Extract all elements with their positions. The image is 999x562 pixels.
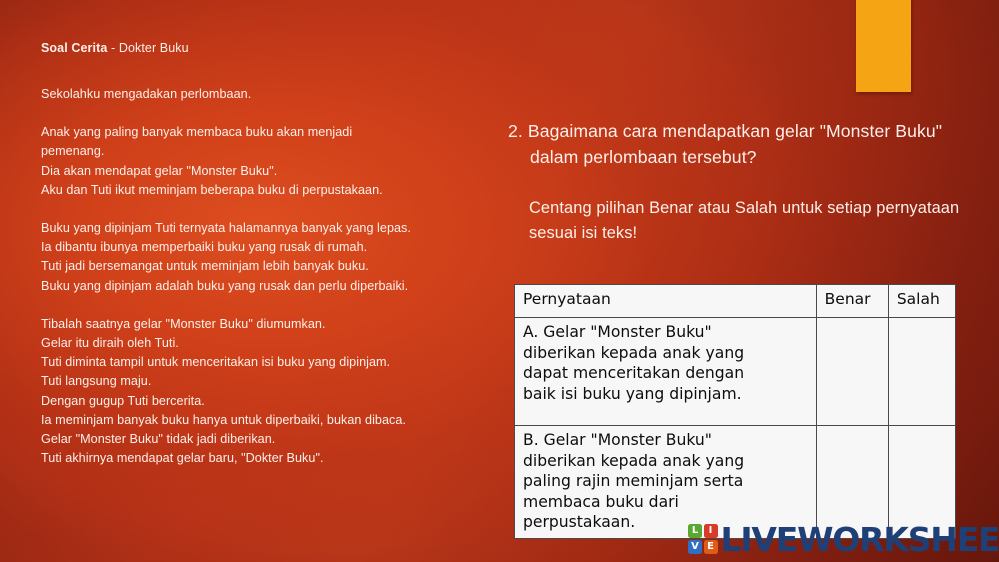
table-row: A. Gelar "Monster Buku" diberikan kepada… [515,318,956,426]
story-line: pemenang. [41,142,511,161]
story-line: Gelar itu diraih oleh Tuti. [41,334,511,353]
statement-line: dapat menceritakan dengan [523,363,809,384]
logo-tile-e: E [704,540,718,554]
answer-cell-a-benar[interactable] [816,318,888,426]
story-line: Tuti jadi bersemangat untuk meminjam leb… [41,257,511,276]
statement-line: A. Gelar "Monster Buku" [523,322,809,343]
logo-tile-v: V [688,540,702,554]
logo-tile-l: L [688,524,702,538]
slide-canvas: Soal Cerita - Dokter Buku Sekolahku meng… [0,0,999,562]
story-line: Tuti langsung maju. [41,372,511,391]
story-line: Dengan gugup Tuti bercerita. [41,392,511,411]
orange-accent-bar [856,0,911,92]
answer-table-container: Pernyataan Benar Salah A. Gelar "Monster… [514,284,956,539]
story-title-rest: - Dokter Buku [107,41,188,55]
logo-tile-i: I [704,524,718,538]
story-line: Sekolahku mengadakan perlombaan. [41,85,511,104]
story-text-block: Soal Cerita - Dokter Buku Sekolahku meng… [41,41,511,468]
story-title-strong: Soal Cerita [41,41,107,55]
column-header-pernyataan: Pernyataan [515,285,817,318]
story-line: Tuti akhirnya mendapat gelar baru, "Dokt… [41,449,511,468]
story-line: Tibalah saatnya gelar "Monster Buku" diu… [41,315,511,334]
story-paragraph: Sekolahku mengadakan perlombaan. [41,85,511,104]
story-line: Buku yang dipinjam adalah buku yang rusa… [41,277,511,296]
question-prompt: 2. Bagaimana cara mendapatkan gelar "Mon… [508,118,978,170]
story-line: Ia meminjam banyak buku hanya untuk dipe… [41,411,511,430]
story-line: Anak yang paling banyak membaca buku aka… [41,123,511,142]
liveworksheets-logo: L I V E LIVEWORKSHEETS [688,519,999,559]
column-header-salah: Salah [888,285,955,318]
statement-line: B. Gelar "Monster Buku" [523,430,809,451]
table-header-row: Pernyataan Benar Salah [515,285,956,318]
liveworksheets-wordmark: LIVEWORKSHEETS [721,523,999,556]
story-line: Aku dan Tuti ikut meminjam beberapa buku… [41,181,511,200]
statement-line: baik isi buku yang dipinjam. [523,384,809,405]
story-line: Ia dibantu ibunya memperbaiki buku yang … [41,238,511,257]
statement-cell-a: A. Gelar "Monster Buku" diberikan kepada… [515,318,817,426]
story-line: Tuti diminta tampil untuk menceritakan i… [41,353,511,372]
statement-line: membaca buku dari [523,492,809,513]
question-block: 2. Bagaimana cara mendapatkan gelar "Mon… [508,118,978,246]
story-line: Gelar "Monster Buku" tidak jadi diberika… [41,430,511,449]
statement-line: paling rajin meminjam serta [523,471,809,492]
column-header-benar: Benar [816,285,888,318]
question-instruction: Centang pilihan Benar atau Salah untuk s… [508,196,978,246]
answer-table: Pernyataan Benar Salah A. Gelar "Monster… [514,284,956,539]
statement-line: diberikan kepada anak yang [523,451,809,472]
story-title: Soal Cerita - Dokter Buku [41,41,511,55]
story-paragraph: Anak yang paling banyak membaca buku aka… [41,123,511,200]
story-paragraph: Tibalah saatnya gelar "Monster Buku" diu… [41,315,511,469]
story-paragraph: Buku yang dipinjam Tuti ternyata halaman… [41,219,511,296]
statement-line: diberikan kepada anak yang [523,343,809,364]
liveworksheets-logo-tiles: L I V E [688,524,718,554]
story-line: Buku yang dipinjam Tuti ternyata halaman… [41,219,511,238]
answer-cell-a-salah[interactable] [888,318,955,426]
story-line: Dia akan mendapat gelar "Monster Buku". [41,162,511,181]
